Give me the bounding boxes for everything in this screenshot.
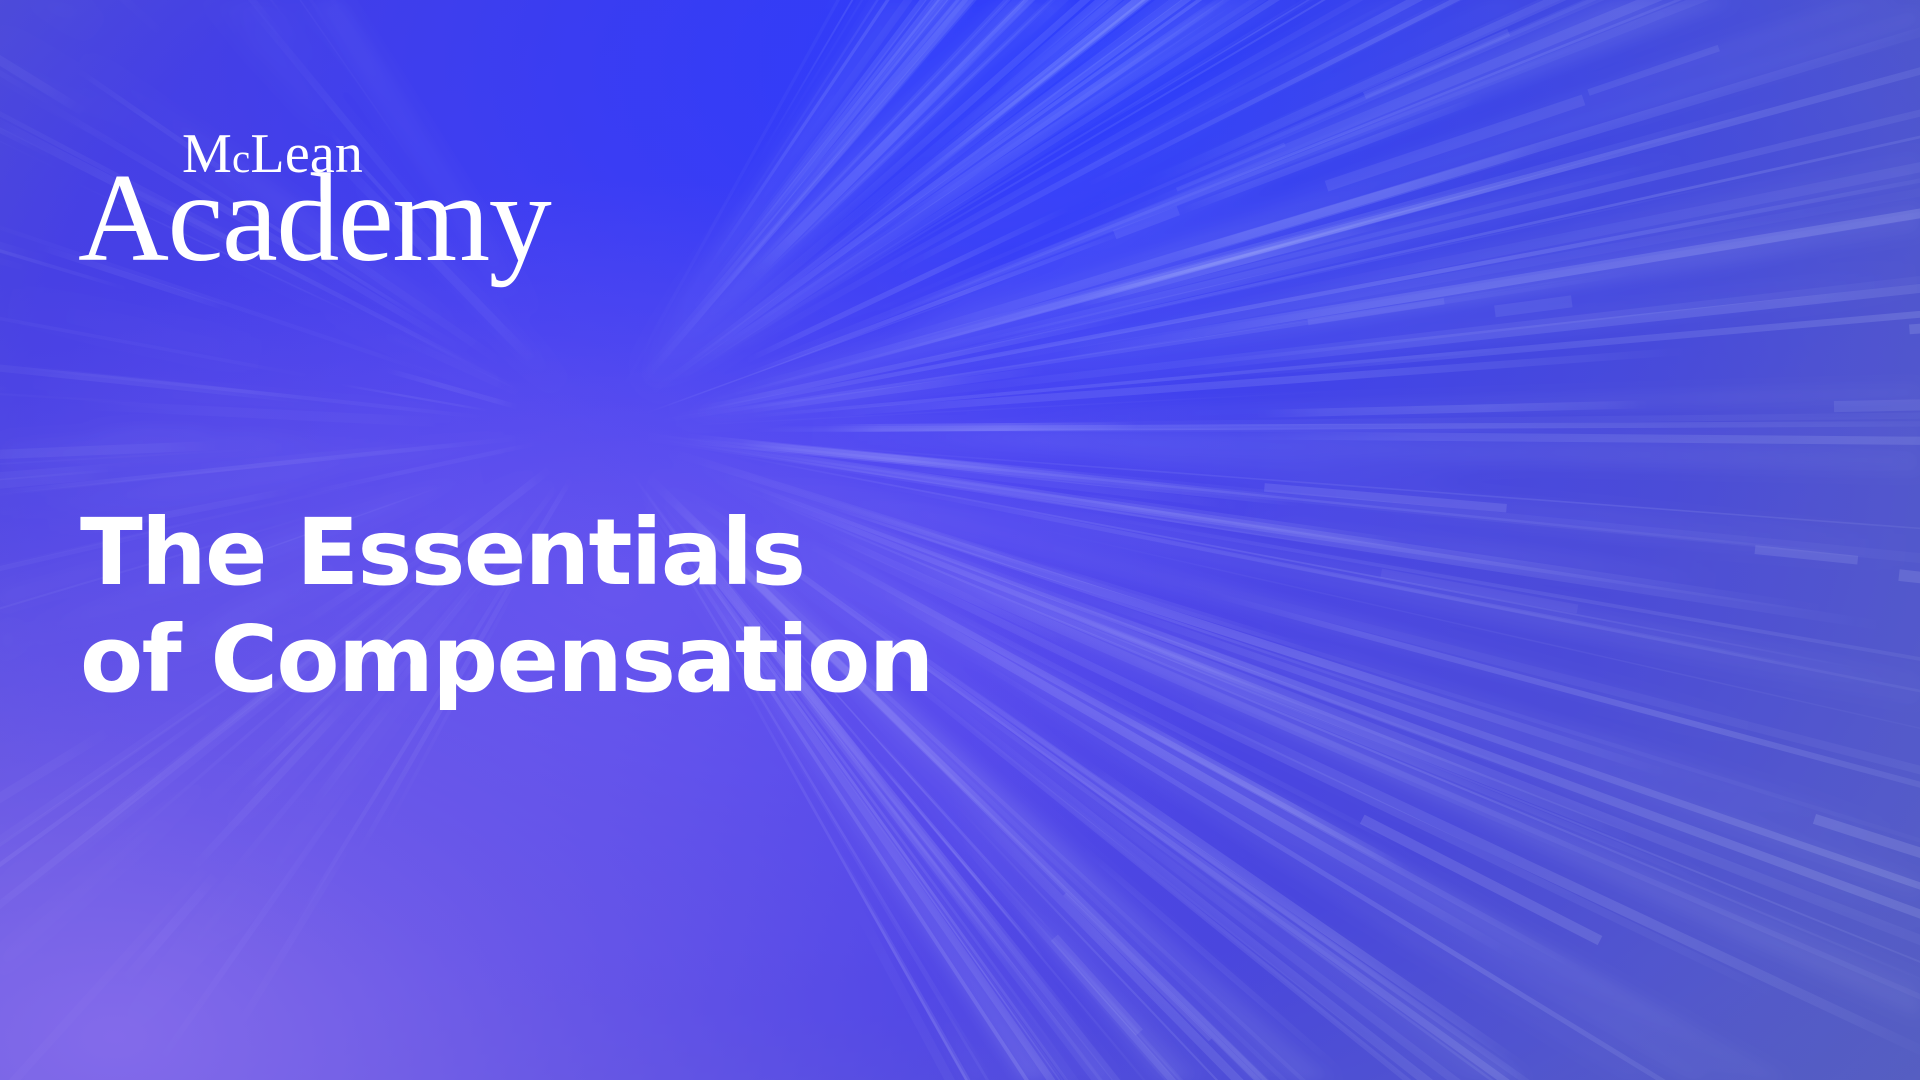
page-title-line-1: The Essentials bbox=[80, 500, 1200, 607]
slide-content: McLean Academy The Essentials of Compens… bbox=[0, 0, 1920, 1080]
logo-academy-wordmark: Academy bbox=[78, 151, 550, 287]
page-title-line-2: of Compensation bbox=[80, 607, 1200, 714]
mclean-academy-logo: McLean Academy bbox=[78, 126, 778, 316]
title-slide: McLean Academy The Essentials of Compens… bbox=[0, 0, 1920, 1080]
page-title: The Essentials of Compensation bbox=[80, 500, 1200, 713]
